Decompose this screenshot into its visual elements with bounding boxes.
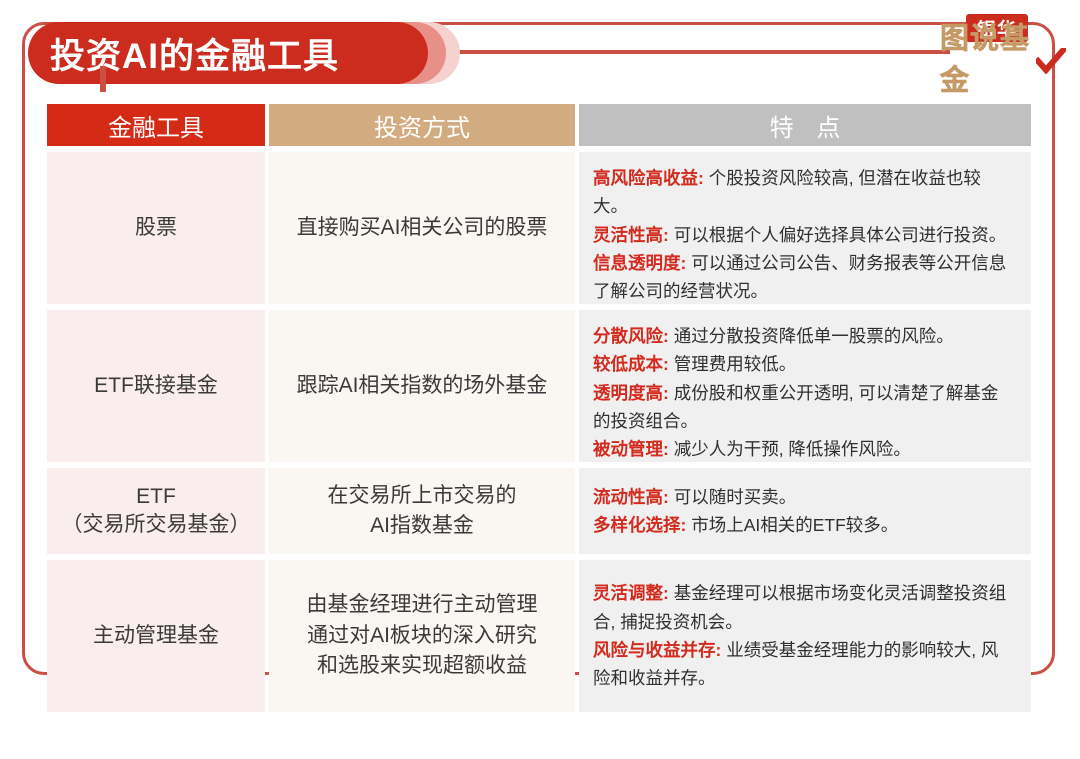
finance-tools-table: 金融工具 投资方式 特 点 股票直接购买AI相关公司的股票高风险高收益: 个股投…: [47, 104, 1031, 664]
cell-tool: ETF联接基金: [47, 310, 265, 462]
feature-keyword: 高风险高收益:: [593, 168, 704, 188]
cell-tool: 主动管理基金: [47, 560, 265, 712]
table-row: 主动管理基金由基金经理进行主动管理通过对AI板块的深入研究和选股来实现超额收益灵…: [47, 560, 1031, 712]
feature-text: 通过分散投资降低单一股票的风险。: [669, 326, 954, 346]
check-icon: [1036, 48, 1066, 74]
feature-keyword: 分散风险:: [593, 326, 669, 346]
feature-keyword: 信息透明度:: [593, 253, 686, 273]
feature-item: 被动管理: 减少人为干预, 降低操作风险。: [593, 435, 1015, 463]
page-header: 投资AI的金融工具 银华 图说基金: [0, 0, 1080, 104]
feature-item: 灵活调整: 基金经理可以根据市场变化灵活调整投资组合, 捕捉投资机会。: [593, 579, 1015, 636]
feature-keyword: 风险与收益并存:: [593, 640, 721, 660]
cell-features: 高风险高收益: 个股投资风险较高, 但潜在收益也较大。灵活性高: 可以根据个人偏…: [579, 152, 1031, 304]
feature-item: 透明度高: 成份股和权重公开透明, 可以清楚了解基金的投资组合。: [593, 379, 1015, 436]
feature-keyword: 多样化选择:: [593, 515, 686, 535]
feature-item: 高风险高收益: 个股投资风险较高, 但潜在收益也较大。: [593, 164, 1015, 221]
table-body: 股票直接购买AI相关公司的股票高风险高收益: 个股投资风险较高, 但潜在收益也较…: [47, 152, 1031, 712]
feature-keyword: 流动性高:: [593, 487, 669, 507]
cell-method: 在交易所上市交易的AI指数基金: [269, 468, 575, 554]
feature-keyword: 被动管理:: [593, 439, 669, 459]
feature-item: 多样化选择: 市场上AI相关的ETF较多。: [593, 511, 898, 539]
feature-item: 分散风险: 通过分散投资降低单一股票的风险。: [593, 322, 1015, 350]
feature-keyword: 透明度高:: [593, 383, 669, 403]
column-header-tool: 金融工具: [47, 104, 265, 146]
feature-text: 管理费用较低。: [669, 354, 796, 374]
column-header-features: 特 点: [579, 104, 1031, 146]
cell-method: 跟踪AI相关指数的场外基金: [269, 310, 575, 462]
page-title: 投资AI的金融工具: [28, 22, 428, 84]
header-rule: [420, 50, 950, 54]
feature-text: 可以随时买卖。: [669, 487, 796, 507]
table-row: 股票直接购买AI相关公司的股票高风险高收益: 个股投资风险较高, 但潜在收益也较…: [47, 152, 1031, 304]
feature-keyword: 灵活调整:: [593, 583, 669, 603]
column-header-method: 投资方式: [269, 104, 575, 146]
cell-method: 直接购买AI相关公司的股票: [269, 152, 575, 304]
feature-item: 较低成本: 管理费用较低。: [593, 350, 1015, 378]
table-header-row: 金融工具 投资方式 特 点: [47, 104, 1031, 146]
table-row: ETF联接基金跟踪AI相关指数的场外基金分散风险: 通过分散投资降低单一股票的风…: [47, 310, 1031, 462]
feature-item: 风险与收益并存: 业绩受基金经理能力的影响较大, 风险和收益并存。: [593, 636, 1015, 693]
cell-tool: ETF（交易所交易基金）: [47, 468, 265, 554]
feature-keyword: 较低成本:: [593, 354, 669, 374]
accent-tick: [100, 66, 106, 92]
cell-features: 流动性高: 可以随时买卖。多样化选择: 市场上AI相关的ETF较多。: [579, 468, 1031, 554]
table-row: ETF（交易所交易基金）在交易所上市交易的AI指数基金流动性高: 可以随时买卖。…: [47, 468, 1031, 554]
brand-logo: 银华 图说基金: [940, 14, 1068, 86]
feature-keyword: 灵活性高:: [593, 225, 669, 245]
cell-features: 分散风险: 通过分散投资降低单一股票的风险。较低成本: 管理费用较低。透明度高:…: [579, 310, 1031, 462]
feature-item: 信息透明度: 可以通过公司公告、财务报表等公开信息了解公司的经营状况。: [593, 249, 1015, 306]
feature-item: 流动性高: 可以随时买卖。: [593, 483, 796, 511]
feature-text: 可以根据个人偏好选择具体公司进行投资。: [669, 225, 1006, 245]
cell-method: 由基金经理进行主动管理通过对AI板块的深入研究和选股来实现超额收益: [269, 560, 575, 712]
cell-features: 灵活调整: 基金经理可以根据市场变化灵活调整投资组合, 捕捉投资机会。风险与收益…: [579, 560, 1031, 712]
feature-text: 市场上AI相关的ETF较多。: [686, 515, 898, 535]
feature-item: 灵活性高: 可以根据个人偏好选择具体公司进行投资。: [593, 221, 1015, 249]
cell-tool: 股票: [47, 152, 265, 304]
feature-text: 减少人为干预, 降低操作风险。: [669, 439, 911, 459]
